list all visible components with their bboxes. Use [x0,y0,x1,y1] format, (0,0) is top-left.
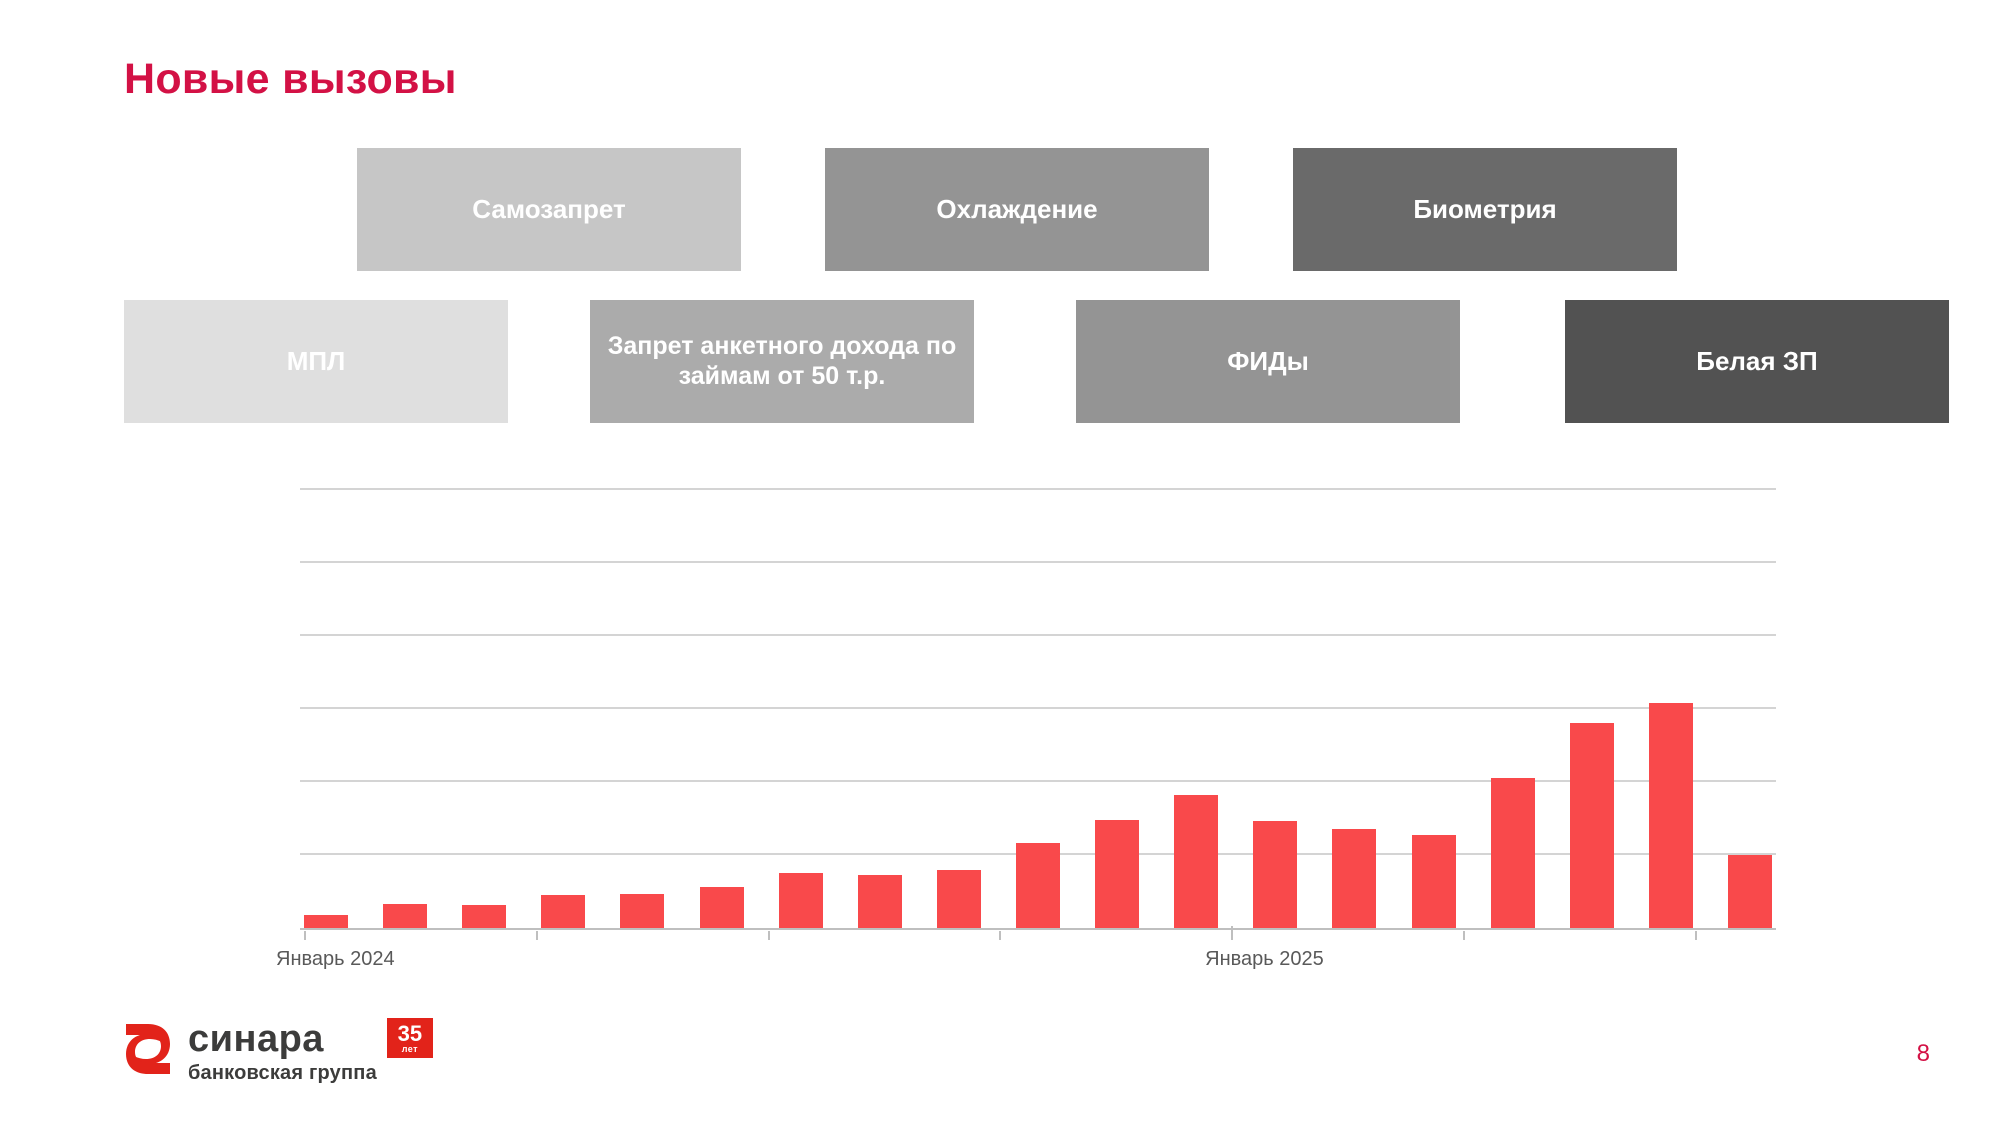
company-logo: синара банковская группа 35 лет [122,1020,433,1078]
bar-11[interactable] [1174,795,1218,928]
x-axis-label-0: Январь 2024 [276,948,395,971]
challenge-chip-label: Белая ЗП [1696,346,1818,377]
challenge-chip-label: МПЛ [287,346,346,377]
bar-0[interactable] [304,915,348,928]
challenge-chip-row1-2[interactable]: Биометрия [1293,148,1677,271]
anniversary-badge: 35 лет [387,1018,433,1058]
x-tick-3 [536,931,538,940]
bar-8[interactable] [937,870,981,928]
challenge-chip-label: ФИДы [1227,346,1309,377]
gridline-5 [300,488,1776,490]
challenge-chip-label: Охлаждение [936,194,1097,225]
synara-mark-icon [122,1020,174,1078]
chart-bars [300,500,1776,928]
x-tick-january-2025 [1231,926,1233,940]
challenge-chip-row1-0[interactable]: Самозапрет [357,148,741,271]
page-title: Новые вызовы [124,55,457,104]
logo-name: синара [188,1020,377,1058]
challenge-chip-row2-2[interactable]: ФИДы [1076,300,1460,423]
bar-13[interactable] [1332,829,1376,928]
bar-17[interactable] [1649,703,1693,928]
x-tick-15 [1463,931,1465,940]
anniversary-word: лет [402,1045,418,1054]
x-tick-6 [768,931,770,940]
bar-4[interactable] [620,894,664,928]
bar-12[interactable] [1253,821,1297,928]
logo-wordmark: синара банковская группа [188,1020,377,1083]
bar-chart [300,490,1776,930]
bar-14[interactable] [1412,835,1456,928]
bar-7[interactable] [858,875,902,928]
challenge-chip-label: Запрет анкетного дохода по займам от 50 … [600,332,964,391]
challenge-chip-row1-1[interactable]: Охлаждение [825,148,1209,271]
bar-2[interactable] [462,905,506,928]
bar-10[interactable] [1095,820,1139,928]
anniversary-number: 35 [398,1023,422,1045]
challenge-chip-label: Самозапрет [472,194,625,225]
challenge-chip-label: Биометрия [1413,194,1556,225]
x-axis-label-1: Январь 2025 [1205,948,1324,971]
slide-canvas: Новые вызовы СамозапретОхлаждениеБиометр… [0,0,2000,1125]
x-tick-0 [304,931,306,940]
bar-5[interactable] [700,887,744,928]
chart-baseline [300,928,1776,930]
bar-1[interactable] [383,904,427,928]
x-tick-9 [999,931,1001,940]
bar-9[interactable] [1016,843,1060,928]
bar-6[interactable] [779,873,823,928]
challenge-chip-row2-0[interactable]: МПЛ [124,300,508,423]
page-number: 8 [1917,1040,1930,1068]
challenge-chip-row2-3[interactable]: Белая ЗП [1565,300,1949,423]
bar-3[interactable] [541,895,585,928]
bar-18[interactable] [1728,855,1772,928]
x-tick-18 [1695,931,1697,940]
challenge-chip-row2-1[interactable]: Запрет анкетного дохода по займам от 50 … [590,300,974,423]
bar-16[interactable] [1570,723,1614,928]
bar-15[interactable] [1491,778,1535,928]
logo-subtitle: банковская группа [188,1063,377,1083]
